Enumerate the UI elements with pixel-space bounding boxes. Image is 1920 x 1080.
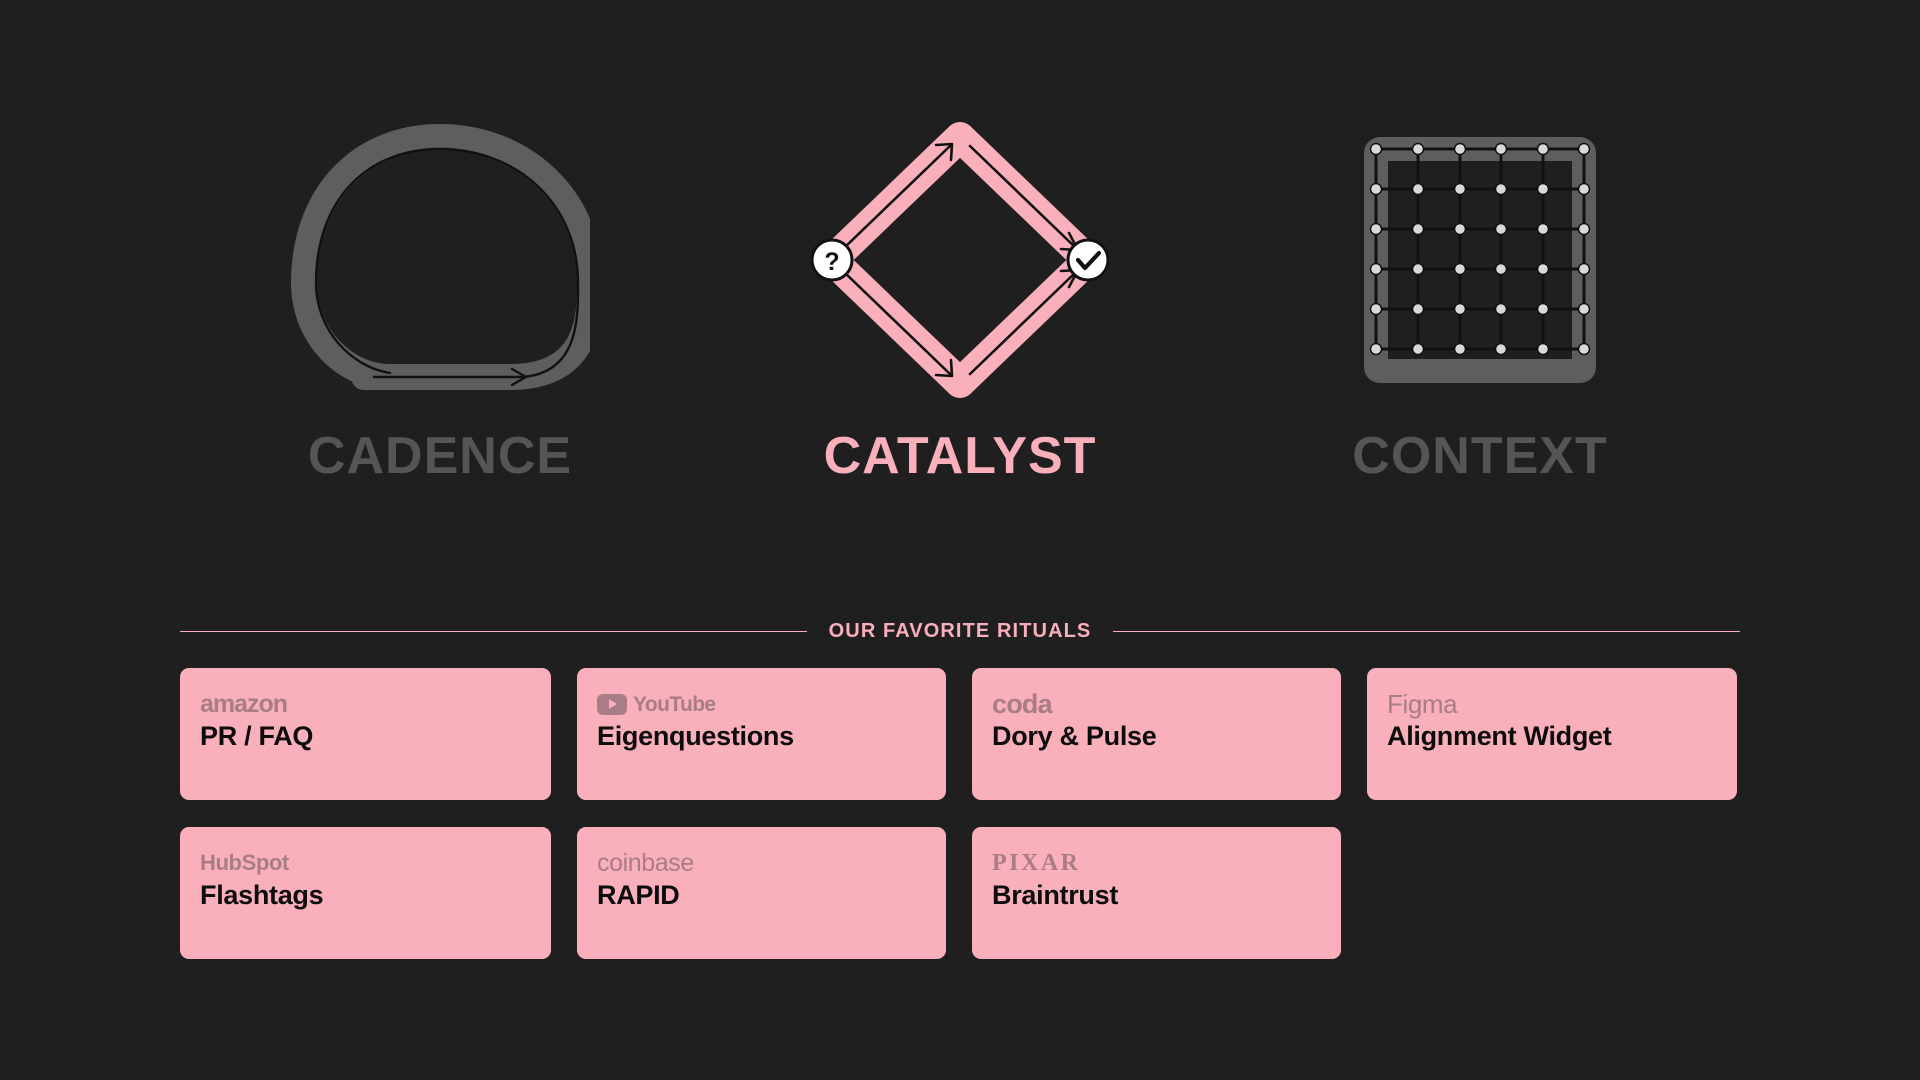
- pillar-cadence: CADENCE: [240, 110, 640, 482]
- pixar-wordmark-text: PIXAR: [992, 851, 1081, 875]
- youtube-wordmark-text: YouTube: [633, 694, 716, 715]
- ritual-name: PR / FAQ: [200, 722, 531, 752]
- check-badge-icon: [1068, 240, 1108, 280]
- ritual-card-youtube[interactable]: YouTube Eigenquestions: [577, 668, 946, 800]
- youtube-play-icon: [597, 694, 627, 715]
- divider-line-right: [1113, 631, 1740, 632]
- ritual-name: Eigenquestions: [597, 722, 926, 752]
- ritual-card-figma[interactable]: Figma Alignment Widget: [1367, 668, 1737, 800]
- brand-logo-coda: coda: [992, 690, 1321, 718]
- ritual-card-hubspot[interactable]: HubSpot Flashtags: [180, 827, 551, 959]
- ritual-name: RAPID: [597, 881, 926, 911]
- ritual-card-pixar[interactable]: PIXAR Braintrust: [972, 827, 1341, 959]
- ritual-card-amazon[interactable]: amazon PR / FAQ: [180, 668, 551, 800]
- pillars-row: CADENCE: [0, 110, 1920, 482]
- ritual-name: Braintrust: [992, 881, 1321, 911]
- pillar-label-context: CONTEXT: [1352, 430, 1607, 482]
- coinbase-wordmark-text: coinbase: [597, 851, 694, 876]
- section-divider: OUR FAVORITE RITUALS: [180, 620, 1740, 643]
- ritual-card-coda[interactable]: coda Dory & Pulse: [972, 668, 1341, 800]
- brand-logo-amazon: amazon: [200, 690, 531, 718]
- ritual-name: Dory & Pulse: [992, 722, 1321, 752]
- brand-logo-pixar: PIXAR: [992, 849, 1321, 877]
- diamond-flow-icon: ?: [800, 115, 1120, 405]
- figma-wordmark-text: Figma: [1387, 691, 1457, 717]
- brand-logo-youtube: YouTube: [597, 690, 926, 718]
- pillar-catalyst: ? CATALYST: [760, 110, 1160, 482]
- context-art: [1280, 110, 1680, 410]
- question-badge-label: ?: [824, 248, 839, 276]
- catalyst-art: ?: [760, 110, 1160, 410]
- pillar-label-catalyst: CATALYST: [824, 430, 1097, 482]
- ritual-name: Alignment Widget: [1387, 722, 1717, 752]
- dot-grid-frame-icon: [1340, 115, 1620, 405]
- brand-logo-figma: Figma: [1387, 690, 1717, 718]
- hubspot-wordmark-text: HubSpot: [200, 852, 289, 874]
- ritual-name: Flashtags: [200, 881, 531, 911]
- pillar-label-cadence: CADENCE: [308, 430, 572, 482]
- cadence-art: [240, 110, 640, 410]
- divider-title: OUR FAVORITE RITUALS: [829, 620, 1092, 643]
- pillar-context: CONTEXT: [1280, 110, 1680, 482]
- amazon-wordmark-text: amazon: [200, 692, 287, 717]
- question-badge-icon: ?: [812, 240, 852, 280]
- rituals-grid: amazon PR / FAQ YouTube Eigenquestions c…: [180, 668, 1740, 959]
- coda-wordmark-text: coda: [992, 691, 1052, 718]
- divider-line-left: [180, 631, 807, 632]
- brand-logo-hubspot: HubSpot: [200, 849, 531, 877]
- loop-arrow-icon: [290, 115, 590, 405]
- ritual-card-coinbase[interactable]: coinbase RAPID: [577, 827, 946, 959]
- slide-canvas: CADENCE: [0, 0, 1920, 1080]
- brand-logo-coinbase: coinbase: [597, 849, 926, 877]
